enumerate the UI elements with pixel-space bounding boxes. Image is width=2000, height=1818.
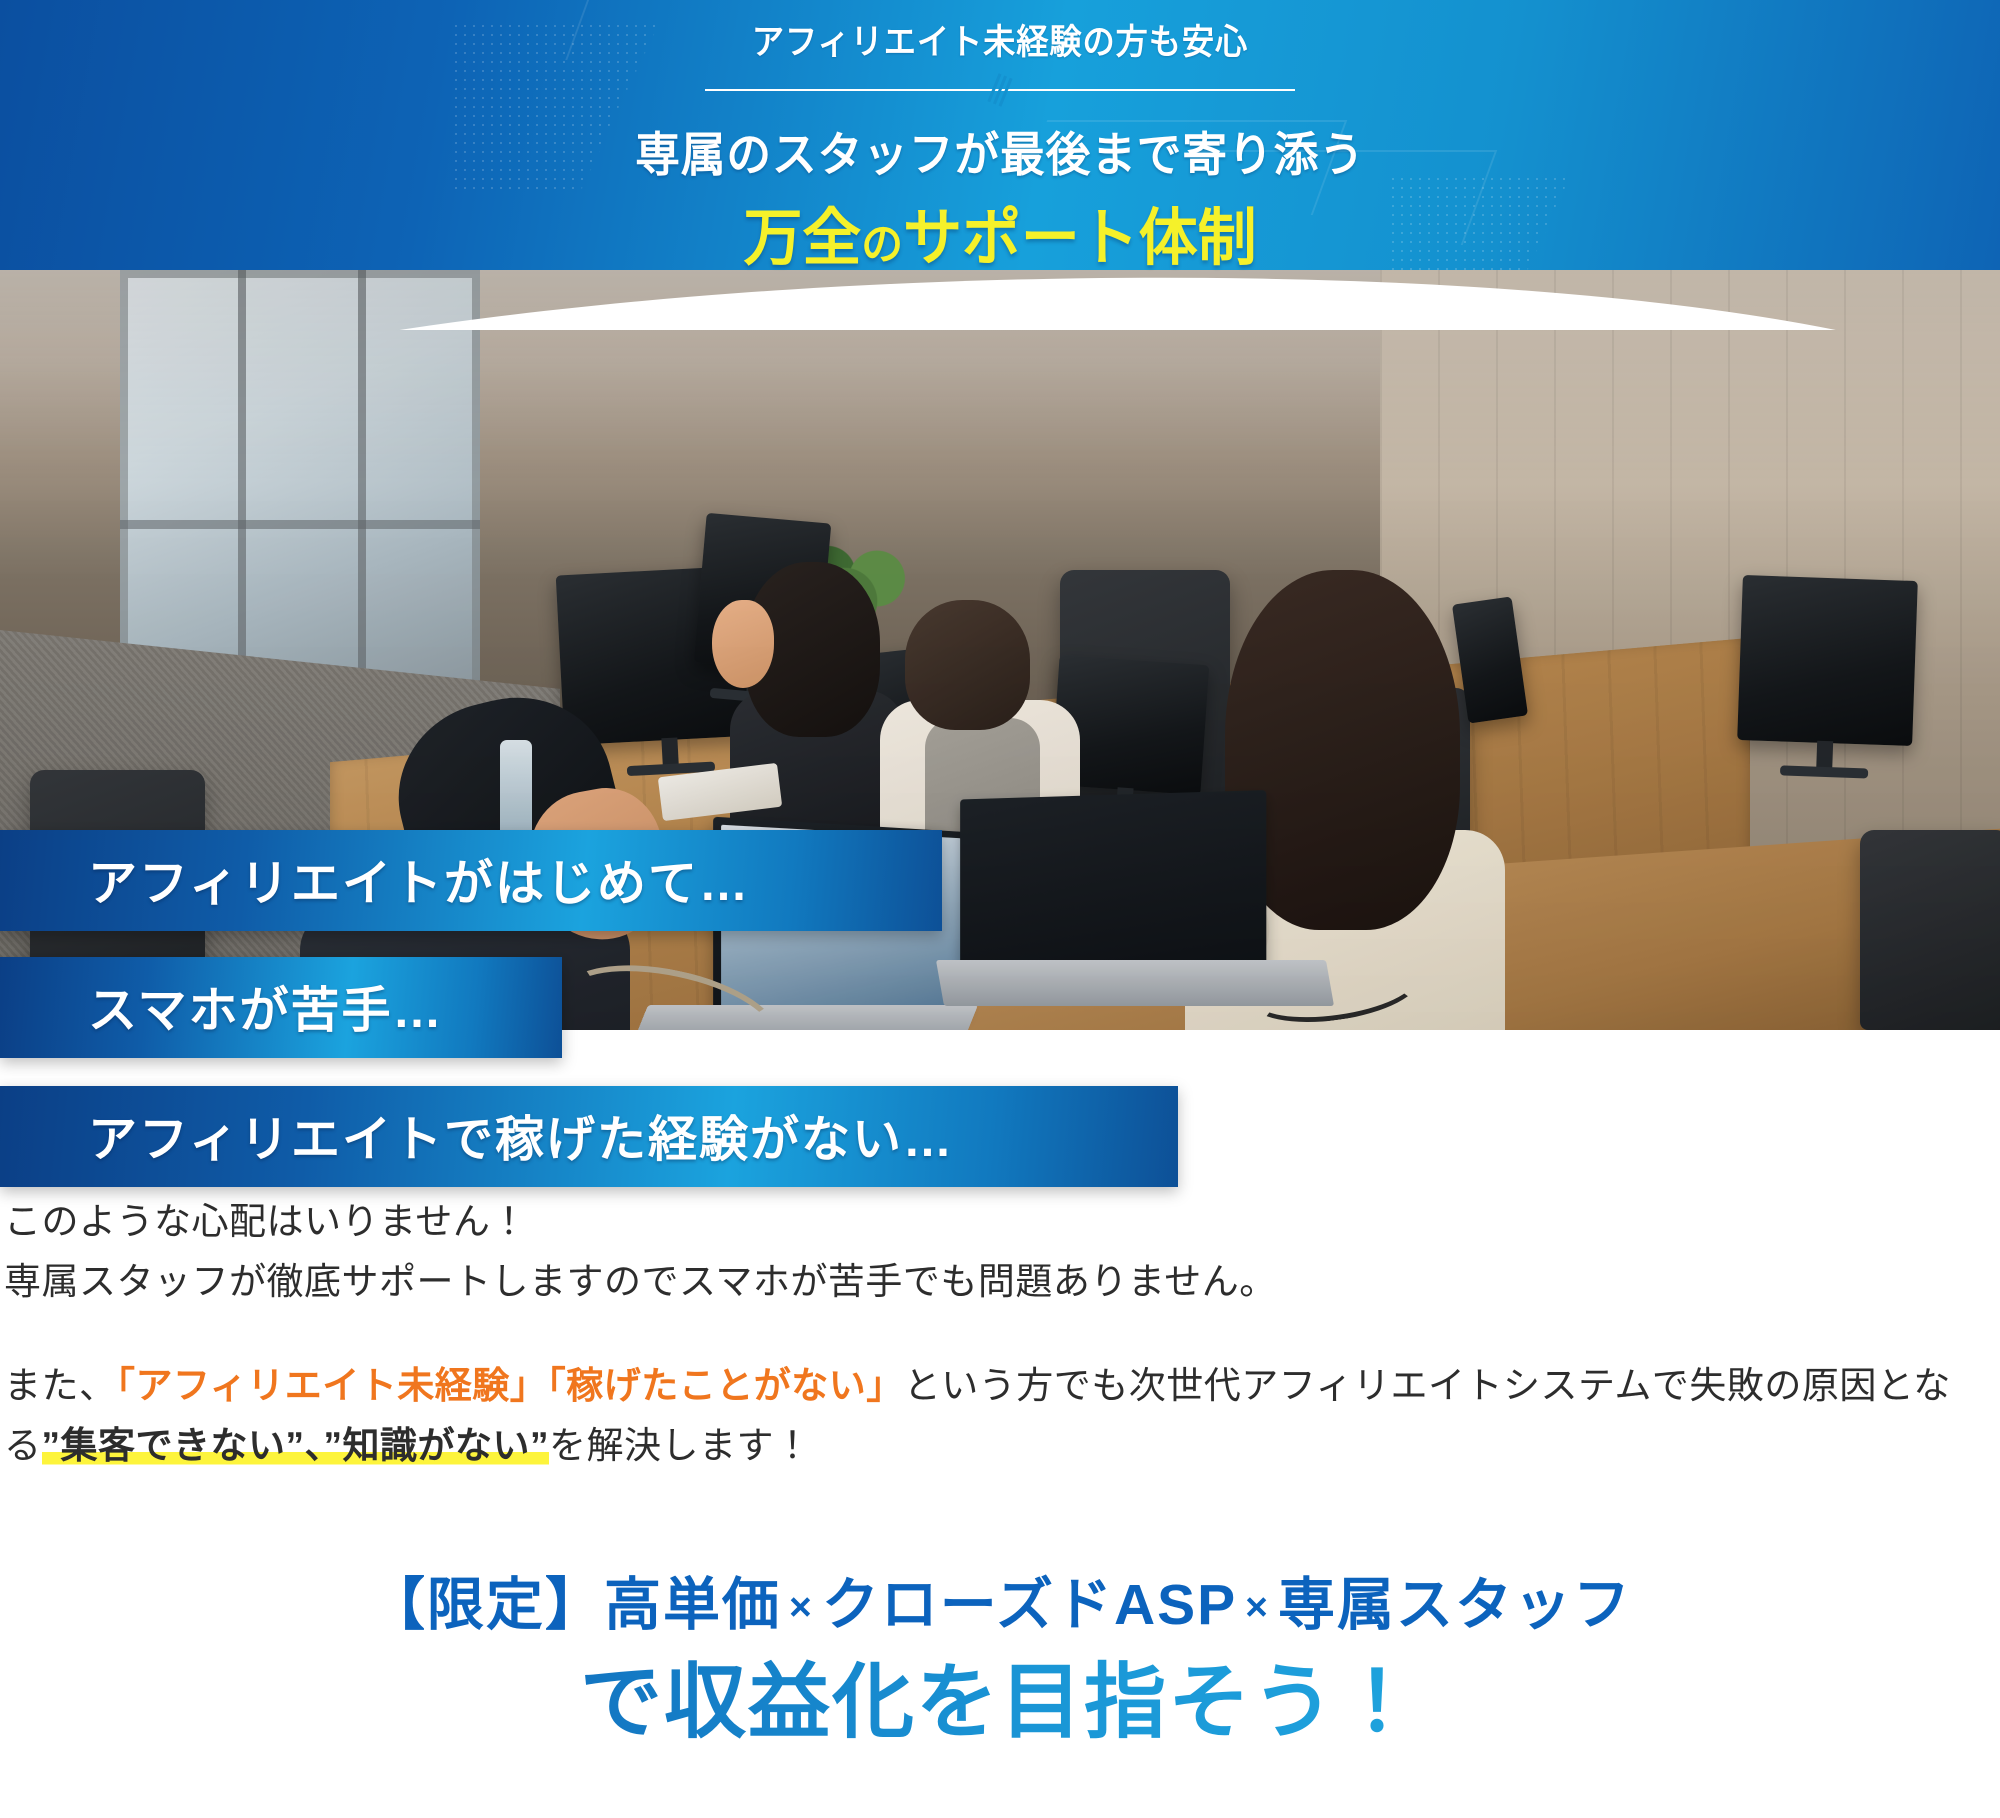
pain-point-bar: スマホが苦手… bbox=[0, 957, 562, 1058]
copy-line3-emphasis-orange: 「アフィリエイト未経験」「稼げたことがない」 bbox=[117, 1365, 904, 1406]
cta-part-c: 専属スタッフ bbox=[1278, 1573, 1632, 1637]
hero-divider-rule bbox=[705, 76, 1295, 102]
copy-line3-highlight: ”集客できない”、”知識がない” bbox=[42, 1425, 550, 1466]
hero-headline-accent: 万全のサポート体制 bbox=[50, 187, 1950, 277]
copy-line-2: 専属スタッフが徹底サポートしますのでスマホが苦手でも問題ありません。 bbox=[4, 1252, 1996, 1312]
cta-subheadline: 【限定】高単価×クローズドASP×専属スタッフ bbox=[0, 1570, 2000, 1641]
copy-line3-tail: を解決します！ bbox=[549, 1425, 812, 1466]
copy-spacer bbox=[4, 1312, 1996, 1356]
hero-accent-particle: の bbox=[861, 220, 903, 269]
copy-line-1: このような心配はいりません！ bbox=[4, 1192, 1996, 1252]
hero-accent-part-b: サポート体制 bbox=[903, 204, 1256, 273]
cross-symbol-icon: × bbox=[1237, 1586, 1278, 1629]
body-copy: このような心配はいりません！ 専属スタッフが徹底サポートしますのでスマホが苦手で… bbox=[0, 1192, 2000, 1476]
pain-point-bar: アフィリエイトで稼げた経験がない… bbox=[0, 1086, 1178, 1187]
pain-point-bar: アフィリエイトがはじめて… bbox=[0, 830, 942, 931]
hero-accent-part-a: 万全 bbox=[743, 204, 861, 273]
cta-headline: で収益化を目指そう！ bbox=[0, 1653, 2000, 1753]
hero-headline-main: 専属のスタッフが最後まで寄り添う bbox=[50, 116, 1950, 185]
cta-part-a: 【限定】高単価 bbox=[368, 1573, 781, 1637]
copy-line-3: また、「アフィリエイト未経験」「稼げたことがない」という方でも次世代アフィリエイ… bbox=[4, 1356, 1996, 1476]
cross-symbol-icon: × bbox=[781, 1586, 822, 1629]
landing-page-section: アフィリエイト未経験の方も安心 専属のスタッフが最後まで寄り添う 万全のサポート… bbox=[0, 0, 2000, 1818]
cta-block: 【限定】高単価×クローズドASP×専属スタッフ で収益化を目指そう！ bbox=[0, 1570, 2000, 1753]
hero-eyebrow-text: アフィリエイト未経験の方も安心 bbox=[80, 22, 1920, 64]
hero-text-group: アフィリエイト未経験の方も安心 専属のスタッフが最後まで寄り添う 万全のサポート… bbox=[0, 0, 2000, 277]
copy-line3-lead: また、 bbox=[4, 1365, 117, 1406]
pain-point-bar-list: アフィリエイトがはじめて… スマホが苦手… アフィリエイトで稼げた経験がない… bbox=[0, 830, 2000, 1187]
cta-part-b: クローズドASP bbox=[822, 1573, 1237, 1637]
